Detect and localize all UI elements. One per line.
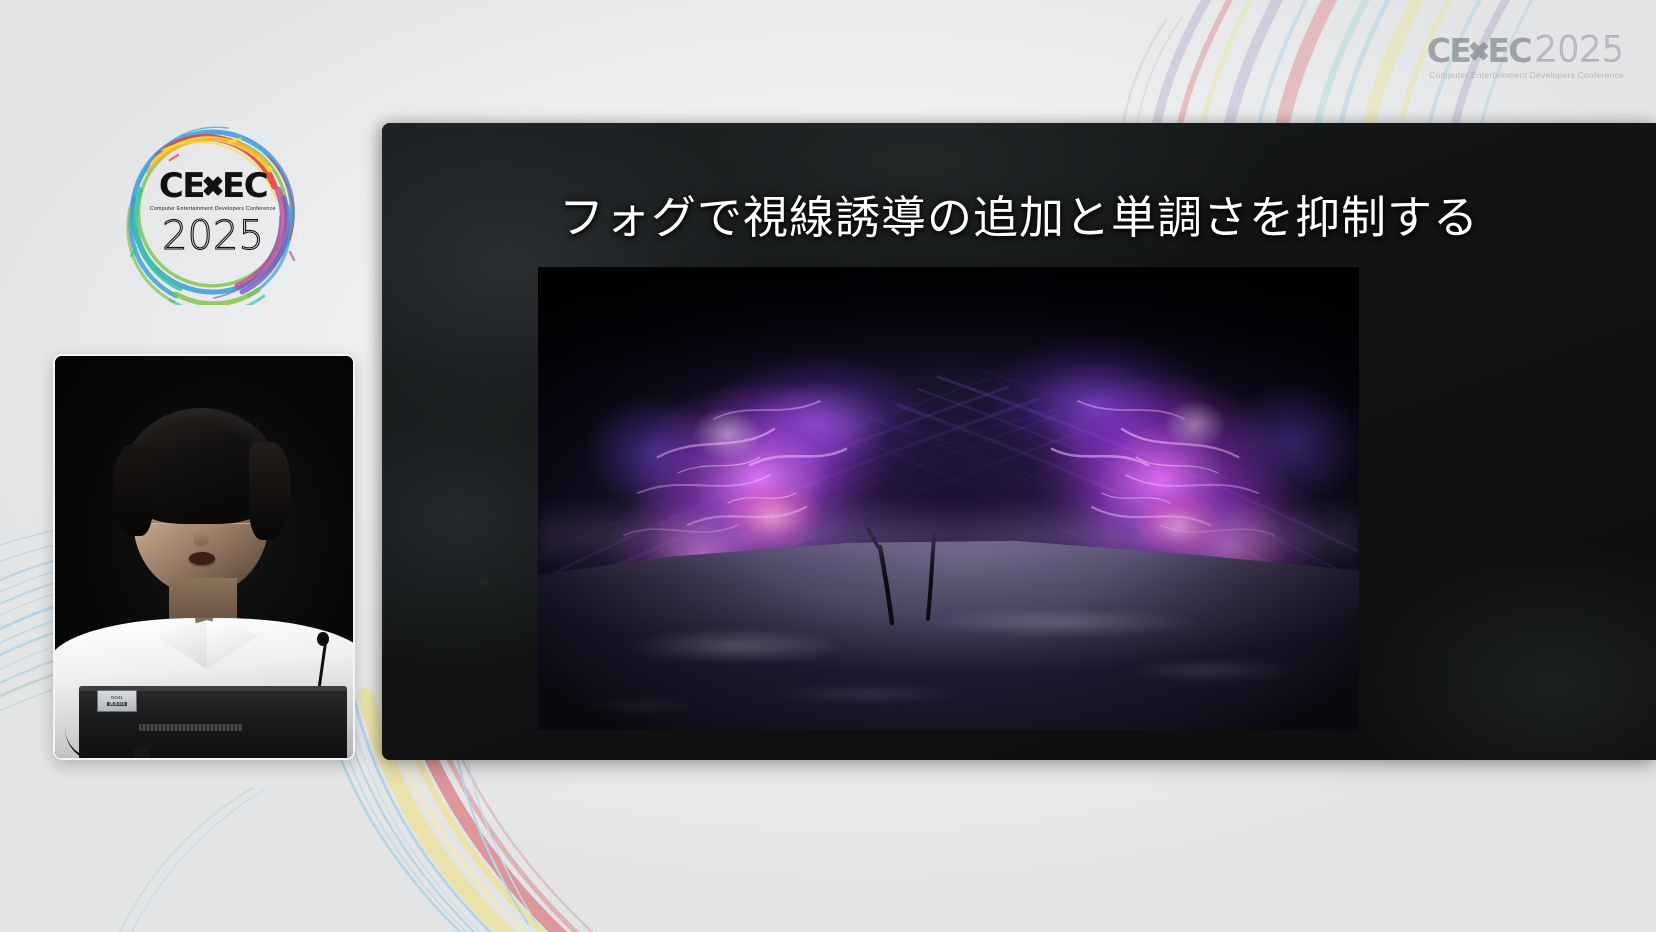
slide-title: フォグで視線誘導の追加と単調さを抑制する [382,181,1656,246]
x-mark-icon [202,174,224,198]
corner-letters-ec: EC [1487,34,1531,67]
ring-logo-letters-ec: EC [222,169,267,203]
speaker-mouth [189,552,215,565]
corner-letters-ce: CE [1427,34,1471,67]
speaker-nose [193,532,209,546]
speaker-camera-feed[interactable]: NO41 講演456 [53,354,355,760]
corner-logo-wordmark: CEEC [1427,34,1531,67]
nameplate-line-2: 講演456 [107,702,128,707]
podium-knob [133,748,149,760]
cedec-ring-logo: CEEC Computer Entertainment Developers C… [118,120,308,305]
ring-logo-year: 2025 [162,216,264,256]
slide-game-screenshot [538,267,1359,730]
presentation-stage: CEEC Computer Entertainment Developers C… [0,0,1656,932]
podium-nameplate: NO41 講演456 [97,690,137,712]
ring-logo-subtitle: Computer Entertainment Developers Confer… [150,206,276,212]
x-mark-icon [1468,39,1489,62]
ring-logo-letters-ce: CE [159,169,204,203]
ring-logo-wordmark: CEEC [159,169,267,203]
slide-panel: フォグで視線誘導の追加と単調さを抑制する [382,123,1656,760]
podium-cable [65,728,185,760]
corner-logo-subtitle: Computer Entertainment Developers Confer… [1429,70,1624,80]
screenshot-vignette [538,267,1359,730]
microphone-icon [317,632,329,646]
cedec-corner-logo: CEEC 2025 Computer Entertainment Develop… [1427,33,1624,80]
corner-logo-year: 2025 [1535,33,1624,68]
nameplate-line-1: NO41 [111,696,123,701]
